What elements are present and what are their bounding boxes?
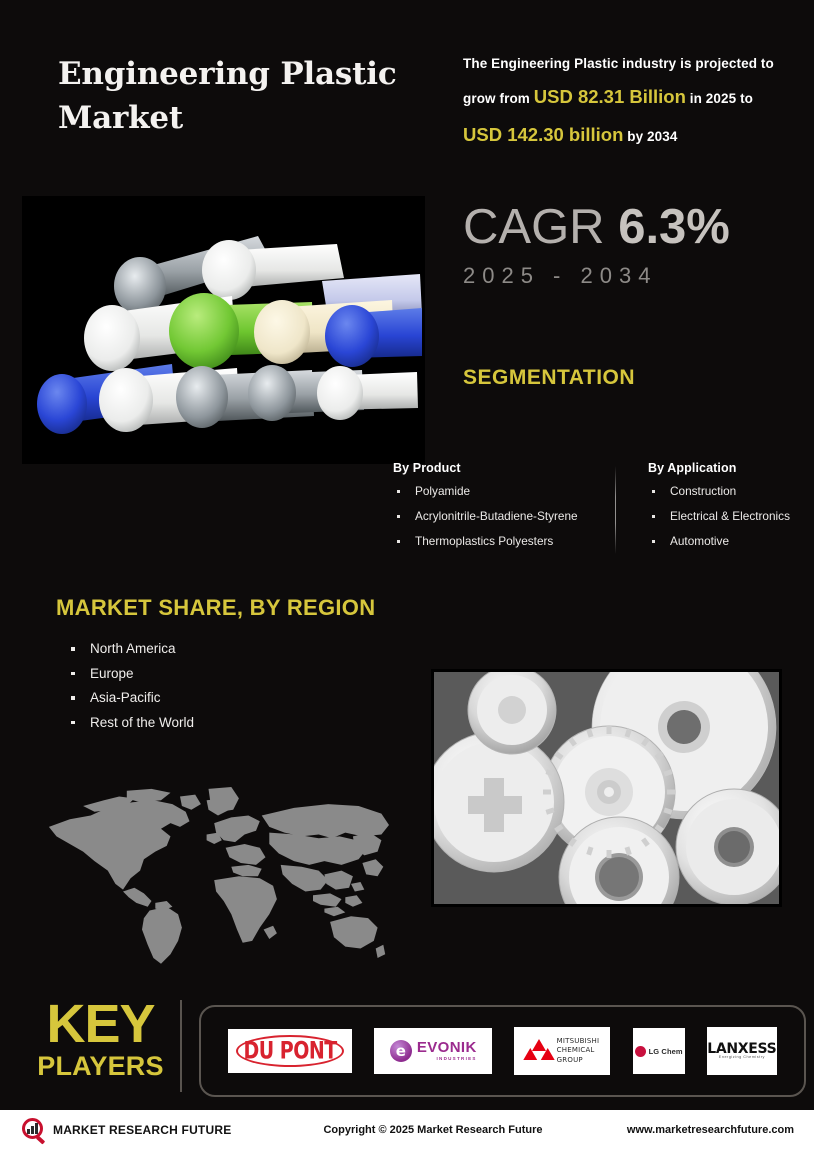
list-item: Construction: [648, 486, 793, 498]
list-item: Automotive: [648, 536, 793, 548]
infographic-page: Engineering Plastic Market The Engineeri…: [0, 0, 814, 1150]
mitsubishi-mark: MITSUBISHI CHEMICAL GROUP: [526, 1037, 600, 1065]
mitsubishi-three-diamonds-icon: [526, 1039, 552, 1063]
footer: MARKET RESEARCH FUTURE Copyright © 2025 …: [0, 1110, 814, 1150]
mitsubishi-line-2: CHEMICAL: [557, 1046, 595, 1054]
cagr-value: 6.3%: [618, 200, 730, 254]
segmentation-column-title: By Application: [648, 461, 793, 475]
mitsubishi-wordmark: MITSUBISHI CHEMICAL GROUP: [557, 1037, 600, 1065]
footer-copyright: Copyright © 2025 Market Research Future: [322, 1124, 544, 1136]
market-research-future-logo-icon: [22, 1118, 46, 1142]
evonik-words: EVONIK INDUSTRIES: [417, 1040, 477, 1062]
market-summary-text: The Engineering Plastic industry is proj…: [463, 50, 793, 154]
plastic-gears-image: [431, 669, 782, 907]
region-list: North America Europe Asia-Pacific Rest o…: [66, 642, 194, 740]
logo-dupont[interactable]: DU PONT: [228, 1029, 352, 1073]
world-map-graphic: [28, 775, 408, 970]
segmentation-column-application: By Application Construction Electrical &…: [633, 461, 793, 560]
lg-chem-wordmark: LG Chem: [649, 1047, 683, 1056]
list-item: Polyamide: [393, 486, 633, 498]
lg-face-icon: [635, 1046, 646, 1057]
cagr-block: CAGR 6.3%: [463, 203, 730, 252]
mitsubishi-line-3: GROUP: [557, 1056, 583, 1064]
key-players-divider: [180, 1000, 182, 1092]
list-item: Rest of the World: [66, 716, 194, 730]
key-players-label-top: KEY: [28, 1000, 173, 1050]
region-heading: MARKET SHARE, BY REGION: [56, 595, 375, 621]
summary-part-3: by 2034: [623, 129, 677, 144]
footer-brand[interactable]: MARKET RESEARCH FUTURE: [22, 1118, 322, 1142]
mitsubishi-line-1: MITSUBISHI: [557, 1037, 600, 1045]
list-item: Asia-Pacific: [66, 691, 194, 705]
lanxess-mark: LANXESS Energizing Chemistry: [707, 1042, 776, 1060]
segmentation-heading: SEGMENTATION: [463, 366, 635, 390]
evonik-subtitle: INDUSTRIES: [417, 1057, 477, 1062]
value-2025: USD 82.31 Billion: [534, 86, 686, 107]
cagr-period: 2025 - 2034: [463, 263, 657, 289]
value-2034: USD 142.30 billion: [463, 124, 623, 145]
list-item: Acrylonitrile-Butadiene-Styrene: [393, 511, 633, 523]
segmentation-column-title: By Product: [393, 461, 633, 475]
evonik-mark: e EVONIK INDUSTRIES: [390, 1040, 477, 1062]
key-players-logo-box: DU PONT e EVONIK INDUSTRIES MITSUBISHI C…: [199, 1005, 806, 1097]
lg-chem-mark: LG Chem: [635, 1046, 683, 1057]
dupont-wordmark: DU PONT: [243, 1037, 336, 1065]
page-title: Engineering Plastic Market: [58, 52, 428, 140]
list-item: Electrical & Electronics: [648, 511, 793, 523]
footer-brand-text: MARKET RESEARCH FUTURE: [53, 1123, 231, 1137]
list-item: North America: [66, 642, 194, 656]
lanxess-wordmark: LANXESS: [707, 1042, 776, 1056]
list-item: Europe: [66, 667, 194, 681]
product-list: Polyamide Acrylonitrile-Butadiene-Styren…: [393, 486, 633, 547]
logo-lg-chem[interactable]: LG Chem: [633, 1028, 685, 1074]
segmentation-column-product: By Product Polyamide Acrylonitrile-Butad…: [393, 461, 633, 560]
list-item: Thermoplastics Polyesters: [393, 536, 633, 548]
key-players-label-bottom: PLAYERS: [28, 1050, 173, 1084]
logo-evonik[interactable]: e EVONIK INDUSTRIES: [374, 1028, 492, 1074]
application-list: Construction Electrical & Electronics Au…: [648, 486, 793, 547]
evonik-circle-icon: e: [390, 1040, 412, 1062]
evonik-wordmark: EVONIK: [417, 1040, 477, 1055]
footer-url[interactable]: www.marketresearchfuture.com: [544, 1124, 794, 1136]
key-players-label: KEY PLAYERS: [28, 1000, 173, 1083]
plastic-rods-image: [22, 196, 425, 464]
summary-part-2: in 2025 to: [686, 91, 753, 106]
dupont-mark: DU PONT: [236, 1035, 344, 1067]
logo-mitsubishi-chemical-group[interactable]: MITSUBISHI CHEMICAL GROUP: [514, 1027, 610, 1075]
segmentation-columns: By Product Polyamide Acrylonitrile-Butad…: [393, 461, 793, 560]
logo-lanxess[interactable]: LANXESS Energizing Chemistry: [707, 1027, 777, 1075]
cagr-label: CAGR: [463, 200, 618, 254]
